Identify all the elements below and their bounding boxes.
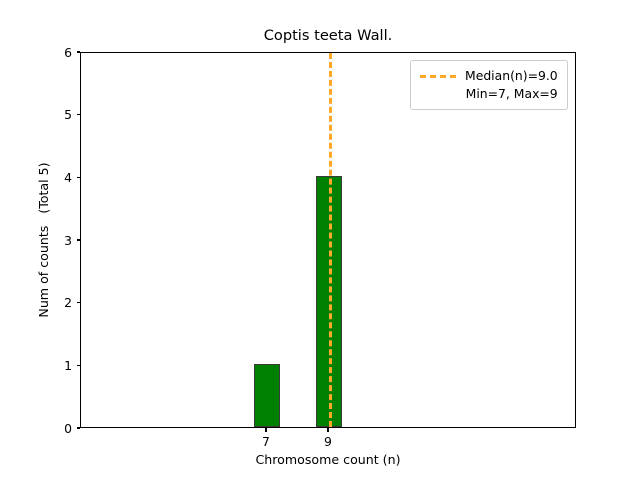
median-line xyxy=(329,53,332,427)
y-tick-mark xyxy=(77,177,81,178)
y-tick-label: 5 xyxy=(64,106,72,123)
y-tick-label: 2 xyxy=(64,294,72,311)
bar-category-7 xyxy=(254,364,280,427)
y-tick-mark xyxy=(77,239,81,240)
y-tick-label: 3 xyxy=(64,232,72,249)
y-tick-mark xyxy=(77,114,81,115)
y-tick-label: 1 xyxy=(64,357,72,374)
dashed-line-icon xyxy=(420,67,456,85)
y-tick-label: 6 xyxy=(64,44,72,61)
legend-entry-median: Median(n)=9.0 xyxy=(420,67,558,85)
legend-label-median: Median(n)=9.0 xyxy=(465,67,558,85)
y-tick-mark xyxy=(77,365,81,366)
x-tick-label: 7 xyxy=(236,434,296,450)
chart-legend: Median(n)=9.0 Min=7, Max=9 xyxy=(410,60,568,110)
chart-title: Coptis teeta Wall. xyxy=(80,27,576,44)
y-tick-mark xyxy=(77,427,81,428)
legend-label-range: Min=7, Max=9 xyxy=(466,85,558,103)
y-tick-label: 4 xyxy=(64,169,72,186)
legend-entry-range: Min=7, Max=9 xyxy=(420,85,558,103)
y-tick-mark xyxy=(77,51,81,52)
chart-figure: Coptis teeta Wall. 0123456 79 Chromosome… xyxy=(0,0,640,480)
x-axis-label: Chromosome count (n) xyxy=(80,452,576,468)
y-tick-mark xyxy=(77,302,81,303)
y-axis-label: Num of counts (Total 5) xyxy=(36,52,52,428)
y-tick-label: 0 xyxy=(64,420,72,437)
x-tick-mark xyxy=(327,428,328,432)
x-tick-label: 9 xyxy=(298,434,358,450)
x-tick-mark xyxy=(265,428,266,432)
